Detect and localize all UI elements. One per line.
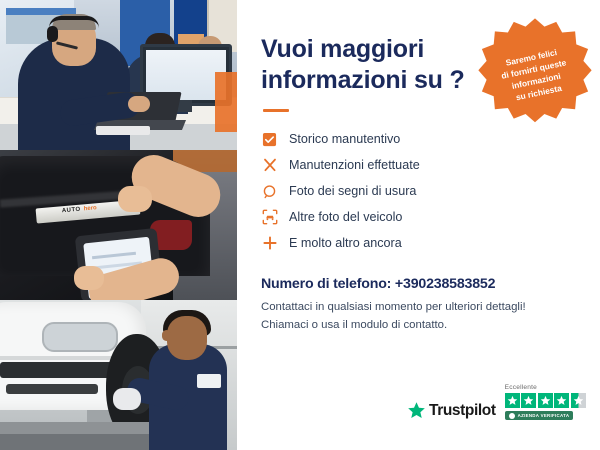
car-in-frame-icon [261,209,278,226]
list-item-label: Altre foto del veicolo [289,210,402,224]
photo-call-center [0,0,237,150]
promo-banner: Vuoi maggiori informazioni su ? Storico … [0,0,600,450]
checkbox-checked-icon [261,131,278,148]
tools-wrench-screwdriver-icon [261,157,278,174]
photo-inspection-black-car [0,150,237,300]
title-underline-divider [263,109,289,112]
star-rating [505,393,586,408]
check-circle-icon [509,413,515,419]
trustpilot-wordmark: Trustpilot [429,402,496,420]
camera-lens-icon [261,183,278,200]
list-item: Manutenzioni effettuate [261,152,578,178]
contact-description-line2: Chiamaci o usa il modulo di contatto. [261,319,447,331]
phone-number[interactable]: Numero di telefono: +390238583852 [261,276,578,292]
rating-label: Eccellente [505,384,537,391]
star-icon [521,393,536,408]
plus-icon [261,235,278,252]
star-icon [538,393,553,408]
list-item-label: Manutenzioni effettuate [289,158,420,172]
feature-list: Storico manutentivo Manutenzioni effettu… [261,126,578,256]
trustpilot-rating: Eccellente AZIENDA VERIFICATA [505,384,586,420]
photo-column [0,0,237,450]
star-icon [407,401,426,420]
trustpilot-widget[interactable]: Trustpilot Eccellente AZIENDA VERIFICATA [407,384,586,420]
page-title: Vuoi maggiori informazioni su ? [261,34,476,95]
verified-company-badge: AZIENDA VERIFICATA [505,411,574,420]
list-item-label: Storico manutentivo [289,132,400,146]
list-item: Altre foto del veicolo [261,204,578,230]
contact-description-line1: Contattaci in qualsiasi momento per ulte… [261,301,526,313]
trustpilot-logo: Trustpilot [407,401,496,420]
star-icon [554,393,569,408]
page-title-line1: Vuoi maggiori [261,35,424,63]
star-half-icon [571,393,586,408]
page-title-line2: informazioni su ? [261,66,465,94]
content-panel: Vuoi maggiori informazioni su ? Storico … [237,0,600,450]
contact-description: Contattaci in qualsiasi momento per ulte… [261,299,578,334]
list-item-label: E molto altro ancora [289,236,402,250]
list-item-label: Foto dei segni di usura [289,184,416,198]
burst-text: Saremo felici di fornirti queste informa… [483,43,587,110]
verified-label: AZIENDA VERIFICATA [518,413,570,418]
star-icon [505,393,520,408]
list-item: Foto dei segni di usura [261,178,578,204]
photo-mechanic-white-car [0,300,237,450]
promo-burst-badge: Saremo felici di fornirti queste informa… [476,16,594,134]
list-item: E molto altro ancora [261,230,578,256]
